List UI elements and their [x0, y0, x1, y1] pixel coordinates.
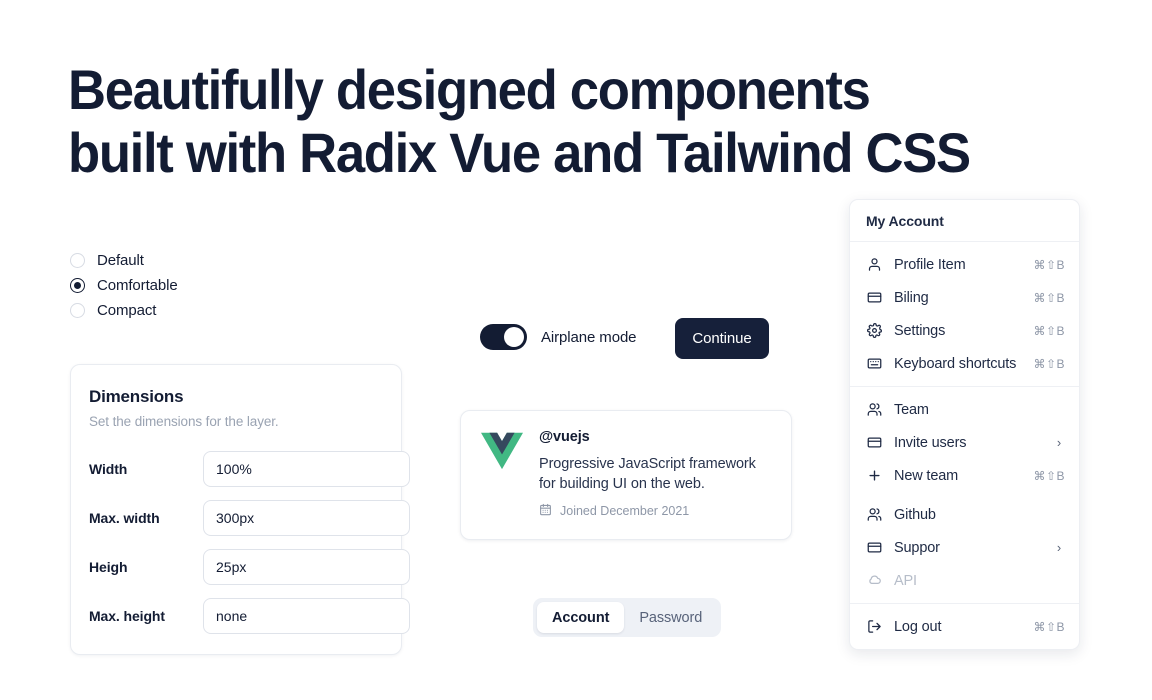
calendar-icon [539, 503, 552, 519]
menu-item-support[interactable]: Suppor › [850, 531, 1079, 564]
menu-item-shortcut: ⌘⇧B [1033, 291, 1065, 305]
user-icon [866, 257, 882, 273]
menu-item-shortcut: ⌘⇧B [1033, 258, 1065, 272]
chevron-right-icon: › [1053, 540, 1065, 555]
input-width[interactable] [203, 451, 410, 487]
page-title: Beautifully designed components built wi… [68, 58, 1028, 184]
menu-item-billing[interactable]: Biling ⌘⇧B [850, 281, 1079, 314]
vue-handle: @vuejs [539, 429, 771, 445]
radio-indicator-default[interactable] [70, 253, 85, 268]
menu-item-new-team[interactable]: New team ⌘⇧B [850, 459, 1079, 492]
vue-logo-icon [481, 432, 523, 470]
account-dropdown-menu: My Account Profile Item ⌘⇧B Biling ⌘⇧B S… [849, 199, 1080, 650]
plus-icon [866, 468, 882, 484]
menu-group-team: Team Invite users › New team ⌘⇧B [850, 387, 1079, 498]
label-max-width: Max. width [89, 510, 203, 526]
logout-icon [866, 619, 882, 635]
chevron-right-icon: › [1053, 435, 1065, 450]
menu-item-label: Invite users [894, 435, 1041, 451]
radio-label-comfortable: Comfortable [97, 277, 178, 294]
dimensions-row-width: Width [89, 451, 381, 487]
tab-password[interactable]: Password [624, 602, 717, 633]
menu-item-label: Settings [894, 323, 1021, 339]
radio-option-comfortable[interactable]: Comfortable [70, 273, 178, 298]
dimensions-row-max-width: Max. width [89, 500, 381, 536]
input-height[interactable] [203, 549, 410, 585]
dimensions-card: Dimensions Set the dimensions for the la… [70, 364, 402, 655]
users-icon [866, 402, 882, 418]
label-height: Heigh [89, 559, 203, 575]
users-icon [866, 507, 882, 523]
menu-item-profile[interactable]: Profile Item ⌘⇧B [850, 248, 1079, 281]
menu-item-label: API [894, 573, 1065, 589]
radio-indicator-comfortable[interactable] [70, 278, 85, 293]
menu-item-api: API [850, 564, 1079, 597]
label-max-height: Max. height [89, 608, 203, 624]
page-title-line-2: built with Radix Vue and Tailwind CSS [68, 121, 970, 184]
vue-hover-card-body: @vuejs Progressive JavaScript framework … [539, 429, 771, 519]
cloud-icon [866, 573, 882, 589]
dimensions-row-height: Heigh [89, 549, 381, 585]
menu-item-label: Github [894, 507, 1065, 523]
menu-group-account: Profile Item ⌘⇧B Biling ⌘⇧B Settings ⌘⇧B… [850, 242, 1079, 386]
settings-tabs: Account Password [533, 598, 721, 637]
menu-item-label: New team [894, 468, 1021, 484]
continue-button[interactable]: Continue [675, 318, 769, 359]
vue-description: Progressive JavaScript framework for bui… [539, 454, 771, 494]
credit-card-icon [866, 290, 882, 306]
radio-label-compact: Compact [97, 302, 156, 319]
menu-item-invite-users[interactable]: Invite users › [850, 426, 1079, 459]
menu-item-label: Keyboard shortcuts [894, 356, 1021, 372]
airplane-mode-label: Airplane mode [541, 329, 636, 346]
dimensions-subtitle: Set the dimensions for the layer. [89, 414, 381, 429]
label-width: Width [89, 461, 203, 477]
menu-group-links: Github Suppor › API [850, 498, 1079, 603]
radio-option-compact[interactable]: Compact [70, 298, 178, 323]
menu-header: My Account [850, 200, 1079, 241]
menu-item-keyboard-shortcuts[interactable]: Keyboard shortcuts ⌘⇧B [850, 347, 1079, 380]
menu-item-shortcut: ⌘⇧B [1033, 469, 1065, 483]
menu-item-label: Biling [894, 290, 1021, 306]
menu-item-label: Suppor [894, 540, 1041, 556]
dimensions-title: Dimensions [89, 387, 381, 407]
keyboard-icon [866, 356, 882, 372]
menu-item-settings[interactable]: Settings ⌘⇧B [850, 314, 1079, 347]
gear-icon [866, 323, 882, 339]
menu-group-session: Log out ⌘⇧B [850, 604, 1079, 649]
menu-item-team[interactable]: Team [850, 393, 1079, 426]
vue-hover-card: @vuejs Progressive JavaScript framework … [460, 410, 792, 540]
menu-item-shortcut: ⌘⇧B [1033, 324, 1065, 338]
radio-label-default: Default [97, 252, 144, 269]
radio-indicator-compact[interactable] [70, 303, 85, 318]
page-title-line-1: Beautifully designed components [68, 58, 870, 121]
density-radio-group[interactable]: Default Comfortable Compact [70, 248, 178, 323]
input-max-width[interactable] [203, 500, 410, 536]
airplane-mode-switch[interactable] [480, 324, 527, 350]
credit-card-icon [866, 435, 882, 451]
dimensions-row-max-height: Max. height [89, 598, 381, 634]
airplane-mode-row: Airplane mode [480, 324, 636, 350]
radio-option-default[interactable]: Default [70, 248, 178, 273]
credit-card-icon [866, 540, 882, 556]
menu-item-github[interactable]: Github [850, 498, 1079, 531]
input-max-height[interactable] [203, 598, 410, 634]
switch-knob [504, 327, 524, 347]
vue-joined-text: Joined December 2021 [560, 504, 689, 518]
menu-item-log-out[interactable]: Log out ⌘⇧B [850, 610, 1079, 643]
menu-item-label: Log out [894, 619, 1021, 635]
menu-item-shortcut: ⌘⇧B [1033, 620, 1065, 634]
menu-item-shortcut: ⌘⇧B [1033, 357, 1065, 371]
tab-account[interactable]: Account [537, 602, 624, 633]
menu-item-label: Team [894, 402, 1065, 418]
menu-item-label: Profile Item [894, 257, 1021, 273]
vue-joined-row: Joined December 2021 [539, 503, 771, 519]
